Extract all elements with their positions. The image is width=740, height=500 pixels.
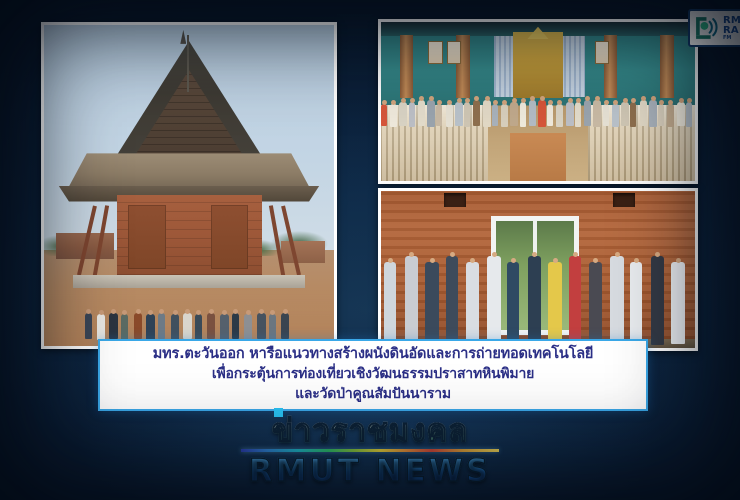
person-head: [159, 309, 164, 314]
person-silhouette: [446, 256, 458, 345]
brand-title-thai: ข่าวราชมงคล: [272, 414, 468, 448]
person-silhouette: [589, 262, 602, 344]
person-head: [492, 252, 497, 257]
logo-line-3: FM: [723, 36, 740, 41]
person-silhouette: [584, 100, 591, 126]
person-silhouette: [146, 314, 155, 340]
person-silhouette: [121, 314, 128, 340]
person-silhouette: [464, 102, 470, 127]
person-silhouette: [446, 104, 453, 127]
person-head: [631, 98, 636, 103]
people-group: [381, 63, 695, 127]
person-silhouette: [381, 104, 387, 126]
person-head: [532, 252, 537, 257]
person-head: [613, 100, 618, 105]
headline-line-1: มทร.ตะวันออก หารือแนวทางสร้างผนังดินอัดแ…: [153, 344, 593, 364]
person-silhouette: [390, 104, 397, 127]
person-head: [655, 252, 660, 257]
people-group: [384, 222, 692, 344]
person-head: [450, 252, 455, 257]
person-head: [530, 96, 535, 101]
wall-opening: [444, 193, 466, 207]
person-head: [573, 252, 578, 257]
person-head: [457, 98, 462, 103]
pavilion-panel-right: [211, 205, 249, 269]
person-head: [687, 98, 692, 103]
person-head: [136, 309, 141, 314]
person-silhouette: [529, 100, 536, 126]
person-silhouette: [575, 102, 581, 127]
person-silhouette: [548, 262, 562, 344]
person-silhouette: [510, 102, 518, 126]
person-silhouette: [593, 100, 601, 127]
person-head: [222, 310, 227, 315]
pavilion-panel-left: [128, 205, 166, 269]
background-hut-right: [281, 241, 325, 263]
person-head: [540, 96, 545, 101]
person-silhouette: [455, 102, 463, 126]
person-silhouette: [171, 314, 179, 340]
person-silhouette: [630, 102, 636, 127]
person-silhouette: [257, 313, 266, 339]
person-silhouette: [483, 100, 491, 127]
person-silhouette: [418, 100, 425, 126]
hall-poster: [428, 41, 443, 64]
person-head: [651, 96, 656, 101]
person-silhouette: [487, 256, 501, 345]
brand-title-english: RMUT NEWS: [249, 454, 491, 488]
hall-aisle-carpet: [510, 133, 567, 181]
radio-broadcast-icon: [694, 15, 720, 41]
logo-wordmark: RM RA FM: [723, 16, 740, 41]
person-head: [604, 100, 609, 105]
person-silhouette: [409, 102, 415, 127]
person-head: [86, 309, 91, 314]
person-silhouette: [466, 262, 479, 344]
person-head: [641, 96, 646, 101]
person-head: [259, 309, 264, 314]
person-head: [493, 100, 498, 105]
person-silhouette: [492, 104, 498, 126]
person-head: [419, 96, 424, 101]
person-head: [615, 252, 620, 257]
person-silhouette: [232, 313, 239, 339]
person-silhouette: [183, 313, 192, 339]
people-group: [85, 263, 294, 340]
person-head: [185, 309, 190, 314]
wall-opening: [613, 193, 635, 207]
rmut-radio-fm-logo[interactable]: RM RA FM: [688, 9, 740, 47]
headline-line-3: และวัดป่าคูณสัมปันนาราม: [295, 384, 451, 404]
photo-temple-hall-group: [378, 19, 698, 184]
person-head: [521, 98, 526, 103]
person-silhouette: [651, 256, 664, 345]
person-silhouette: [649, 100, 657, 127]
hall-poster: [447, 41, 462, 64]
person-silhouette: [97, 314, 105, 340]
person-silhouette: [621, 102, 629, 126]
person-silhouette: [220, 314, 229, 340]
person-head: [99, 310, 104, 315]
person-head: [233, 309, 238, 314]
person-silhouette: [612, 104, 619, 127]
logo-line-2: RA: [723, 26, 740, 36]
person-head: [173, 310, 178, 315]
person-silhouette: [667, 104, 674, 127]
person-head: [679, 98, 684, 103]
person-silhouette: [610, 256, 624, 345]
person-silhouette: [399, 102, 407, 126]
person-head: [576, 98, 581, 103]
person-head: [485, 96, 490, 101]
person-silhouette: [384, 262, 396, 344]
person-silhouette: [427, 100, 435, 127]
person-head: [447, 100, 452, 105]
person-silhouette: [528, 256, 541, 345]
person-head: [388, 258, 393, 263]
person-silhouette: [501, 104, 508, 127]
person-head: [502, 100, 507, 105]
person-silhouette: [566, 102, 574, 126]
person-silhouette: [658, 104, 664, 126]
person-silhouette: [436, 104, 442, 126]
pavilion-ridge: [187, 35, 189, 93]
person-silhouette: [207, 313, 215, 339]
headline-text-box: มทร.ตะวันออก หารือแนวทางสร้างผนังดินอัดแ…: [98, 339, 648, 411]
person-silhouette: [109, 313, 118, 339]
person-silhouette: [630, 262, 642, 344]
person-head: [409, 252, 414, 257]
brand-lockup: ข่าวราชมงคล RMUT NEWS: [0, 414, 740, 488]
person-silhouette: [671, 262, 685, 344]
person-head: [270, 310, 275, 315]
person-head: [437, 100, 442, 105]
person-head: [196, 310, 201, 315]
photo-temple-pavilion: [41, 22, 337, 349]
person-silhouette: [686, 102, 692, 127]
rainbow-divider: [241, 449, 499, 452]
person-head: [283, 309, 288, 314]
person-silhouette: [569, 256, 581, 345]
person-silhouette: [134, 313, 142, 339]
person-head: [148, 310, 153, 315]
person-silhouette: [677, 102, 685, 126]
person-silhouette: [556, 104, 563, 127]
person-silhouette: [425, 262, 439, 344]
news-banner-graphic: มทร.ตะวันออก หารือแนวทางสร้างผนังดินอัดแ…: [0, 0, 740, 500]
person-head: [568, 98, 573, 103]
person-silhouette: [538, 100, 546, 127]
logo-line-1: RM: [723, 16, 740, 26]
person-silhouette: [640, 100, 647, 126]
person-silhouette: [603, 104, 609, 126]
person-head: [246, 310, 251, 315]
person-head: [382, 100, 387, 105]
person-silhouette: [547, 104, 553, 126]
person-silhouette: [195, 314, 202, 340]
person-silhouette: [473, 100, 480, 126]
photo-rammed-earth-building: [378, 188, 698, 351]
hall-poster: [595, 41, 610, 64]
person-silhouette: [158, 313, 165, 339]
person-head: [410, 98, 415, 103]
person-head: [659, 100, 664, 105]
person-silhouette: [269, 314, 276, 340]
person-head: [111, 309, 116, 314]
person-silhouette: [507, 262, 519, 344]
person-silhouette: [405, 256, 418, 345]
person-head: [548, 100, 553, 105]
person-silhouette: [281, 313, 289, 339]
person-silhouette: [85, 313, 92, 339]
headline-line-2: เพื่อกระตุ้นการท่องเที่ยวเชิงวัฒนธรรมปรา…: [212, 364, 534, 384]
person-silhouette: [520, 102, 526, 127]
person-silhouette: [244, 314, 252, 340]
